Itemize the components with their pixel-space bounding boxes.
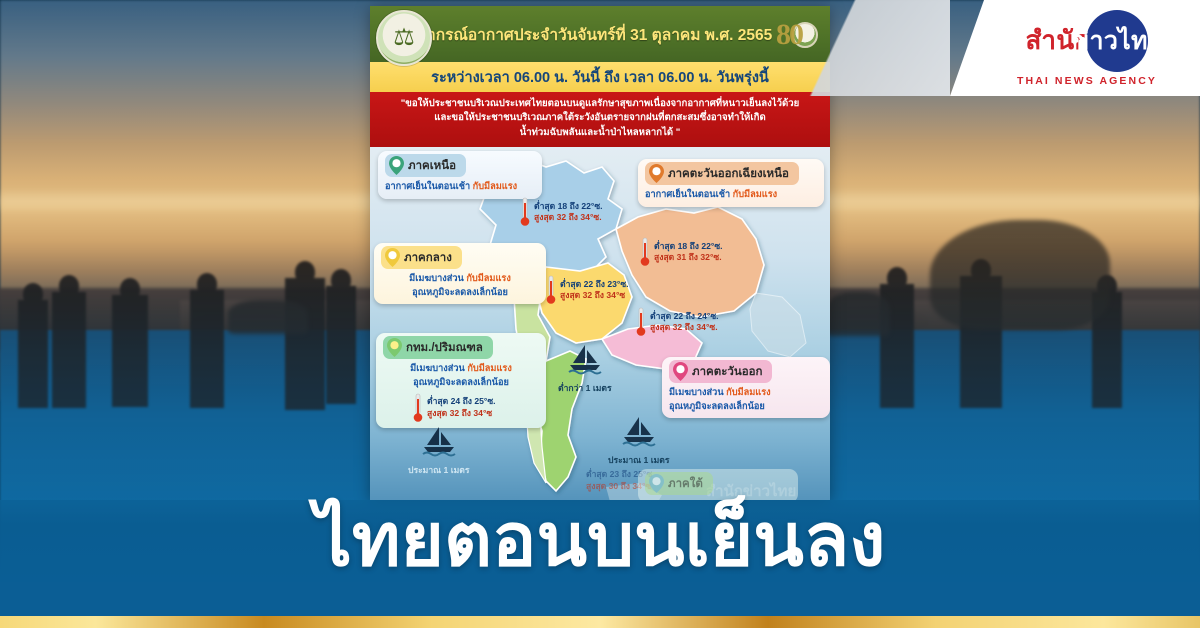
map-neighbor-land xyxy=(750,293,806,357)
logo-circle-text: ข่าวไทย xyxy=(1086,10,1148,72)
region-label-bangkok: กทม./ปริมณฑล xyxy=(406,339,483,357)
temp-high-central: สูงสุด 32 ถึง 34°ซ xyxy=(560,290,629,302)
temperature-central: ต่ำสุด 22 ถึง 23°ซ. สูงสุด 32 ถึง 34°ซ xyxy=(546,275,629,305)
temp-low-central: ต่ำสุด 22 ถึง 23°ซ. xyxy=(560,279,629,291)
sailboat-icon xyxy=(619,415,659,447)
callout-east[interactable]: ภาคตะวันออก มีเมฆบางส่วน กับมีลมแรง อุณห… xyxy=(662,357,830,418)
map-pin-icon xyxy=(389,156,404,175)
map-pin-icon xyxy=(673,362,688,381)
region-desc-bangkok: มีเมฆบางส่วน กับมีลมแรง อุณหภูมิจะลดลงเล… xyxy=(383,362,539,389)
region-chip-bangkok: กทม./ปริมณฑล xyxy=(383,336,493,359)
region-chip-south: ภาคใต้ xyxy=(645,472,713,495)
wave-height-gulf-upper: ต่ำกว่า 1 เมตร xyxy=(558,343,612,395)
thai-news-agency-logo: สำนัก ข่าวไทย THAI NEWS AGENCY xyxy=(950,0,1200,96)
wave-label-andaman: ประมาณ 1 เมตร xyxy=(408,463,470,477)
thermometer-icon xyxy=(520,197,530,227)
region-desc-central: มีเมฆบางส่วน กับมีลมแรง อุณหภูมิจะลดลงเล… xyxy=(381,272,539,299)
callout-north[interactable]: ภาคเหนือ อากาศเย็นในตอนเช้า กับมีลมแรง xyxy=(378,151,542,198)
map-pin-icon xyxy=(649,474,664,493)
region-label-northeast: ภาคตะวันออกเฉียงเหนือ xyxy=(668,165,789,183)
temp-high-east: สูงสุด 32 ถึง 34°ซ. xyxy=(650,322,719,334)
temperature-north: ต่ำสุด 18 ถึง 22°ซ. สูงสุด 32 ถึง 34°ซ. xyxy=(520,197,603,227)
region-desc-north: อากาศเย็นในตอนเช้า กับมีลมแรง xyxy=(385,180,535,193)
wave-label-gulf-lower: ประมาณ 1 เมตร xyxy=(608,453,670,467)
map-pin-icon xyxy=(649,164,664,183)
logo-wedge xyxy=(760,0,950,96)
warning-line-3: น้ำท่วมฉับพลันและน้ำป่าไหลหลากได้ " xyxy=(380,126,820,140)
thermometer-icon xyxy=(413,393,423,423)
region-label-north: ภาคเหนือ xyxy=(408,157,456,175)
thermometer-icon xyxy=(546,275,556,305)
wave-label-gulf-upper: ต่ำกว่า 1 เมตร xyxy=(558,381,612,395)
sailboat-icon xyxy=(419,425,459,457)
thermometer-icon xyxy=(636,307,646,337)
tmd-emblem-icon: ⚖ xyxy=(376,10,432,66)
headline-text: ไทยตอนบนเย็นลง xyxy=(0,498,1200,582)
temp-low-east: ต่ำสุด 22 ถึง 24°ซ. xyxy=(650,311,719,323)
temp-high-north: สูงสุด 32 ถึง 34°ซ. xyxy=(534,212,603,224)
region-label-south: ภาคใต้ xyxy=(668,475,703,493)
temp-low-bangkok: ต่ำสุด 24 ถึง 25°ซ. xyxy=(427,396,496,408)
region-chip-northeast: ภาคตะวันออกเฉียงเหนือ xyxy=(645,162,799,185)
thailand-map: ภาคเหนือ อากาศเย็นในตอนเช้า กับมีลมแรง ภ… xyxy=(370,147,830,500)
region-desc-east: มีเมฆบางส่วน กับมีลมแรง อุณหภูมิจะลดลงเล… xyxy=(669,386,823,413)
temp-high-bangkok: สูงสุด 32 ถึง 34°ซ xyxy=(427,408,496,420)
wave-height-gulf-lower: ประมาณ 1 เมตร xyxy=(608,415,670,467)
map-pin-icon xyxy=(385,248,400,267)
callout-central[interactable]: ภาคกลาง มีเมฆบางส่วน กับมีลมแรง อุณหภูมิ… xyxy=(374,243,546,304)
garuda-glyph: ⚖ xyxy=(393,26,415,50)
map-pin-icon xyxy=(387,338,402,357)
region-chip-north: ภาคเหนือ xyxy=(385,154,466,177)
thermometer-icon xyxy=(640,237,650,267)
sailboat-icon xyxy=(565,343,605,375)
wave-height-andaman: ประมาณ 1 เมตร xyxy=(408,425,470,477)
warning-line-1: "ขอให้ประชาชนบริเวณประเทศไทยตอนบนดูแลรัก… xyxy=(380,97,820,111)
temp-low-northeast: ต่ำสุด 18 ถึง 22°ซ. xyxy=(654,241,723,253)
region-label-east: ภาคตะวันออก xyxy=(692,363,762,381)
temperature-northeast: ต่ำสุด 18 ถึง 22°ซ. สูงสุด 31 ถึง 32°ซ. xyxy=(640,237,723,267)
temperature-east: ต่ำสุด 22 ถึง 24°ซ. สูงสุด 32 ถึง 34°ซ. xyxy=(636,307,719,337)
temp-low-north: ต่ำสุด 18 ถึง 22°ซ. xyxy=(534,201,603,213)
footer-blue-bar xyxy=(0,582,1200,616)
region-chip-central: ภาคกลาง xyxy=(381,246,462,269)
logo-text-english: THAI NEWS AGENCY xyxy=(1017,75,1157,87)
footer-gold-bar xyxy=(0,616,1200,628)
callout-bangkok[interactable]: กทม./ปริมณฑล มีเมฆบางส่วน กับมีลมแรง อุณ… xyxy=(376,333,546,428)
callout-northeast[interactable]: ภาคตะวันออกเฉียงเหนือ อากาศเย็นในตอนเช้า… xyxy=(638,159,824,206)
region-label-central: ภาคกลาง xyxy=(404,249,452,267)
callout-south[interactable]: ภาคใต้ xyxy=(638,469,798,500)
region-chip-east: ภาคตะวันออก xyxy=(669,360,772,383)
region-desc-northeast: อากาศเย็นในตอนเช้า กับมีลมแรง xyxy=(645,188,817,201)
temperature-bangkok: ต่ำสุด 24 ถึง 25°ซ. สูงสุด 32 ถึง 34°ซ xyxy=(413,393,539,423)
warning-banner: "ขอให้ประชาชนบริเวณประเทศไทยตอนบนดูแลรัก… xyxy=(370,92,830,147)
temp-high-northeast: สูงสุด 31 ถึง 32°ซ. xyxy=(654,252,723,264)
warning-line-2: และขอให้ประชาชนบริเวณภาคใต้ระวังอันตรายจ… xyxy=(380,111,820,125)
